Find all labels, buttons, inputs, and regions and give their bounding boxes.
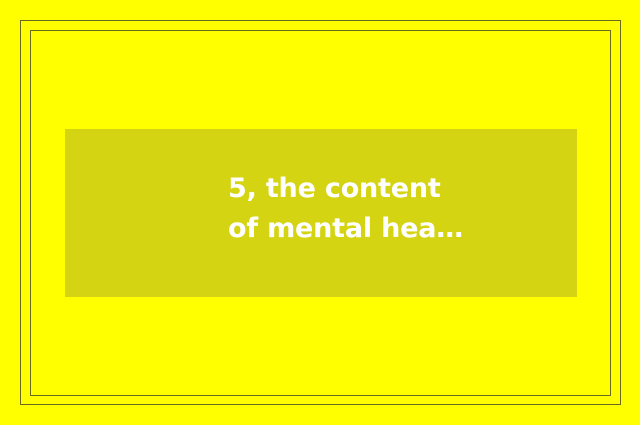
page-canvas: 5, the content of mental hea… (0, 0, 640, 425)
card-text-line-1: 5, the content (228, 169, 558, 209)
decorative-frame-inner: 5, the content of mental hea… (30, 30, 611, 396)
card-text-block: 5, the content of mental hea… (228, 169, 558, 249)
content-card: 5, the content of mental hea… (65, 129, 577, 297)
card-text-line-2: of mental hea… (228, 209, 558, 249)
